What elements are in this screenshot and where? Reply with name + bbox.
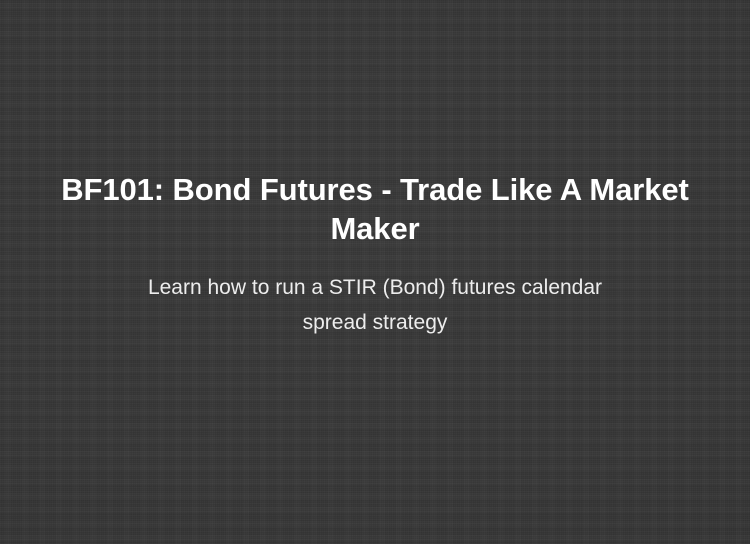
page-subtitle: Learn how to run a STIR (Bond) futures c… (117, 270, 633, 340)
course-hero-banner: BF101: Bond Futures - Trade Like A Marke… (0, 0, 750, 544)
hero-content: BF101: Bond Futures - Trade Like A Marke… (0, 0, 750, 340)
page-title: BF101: Bond Futures - Trade Like A Marke… (30, 170, 720, 248)
